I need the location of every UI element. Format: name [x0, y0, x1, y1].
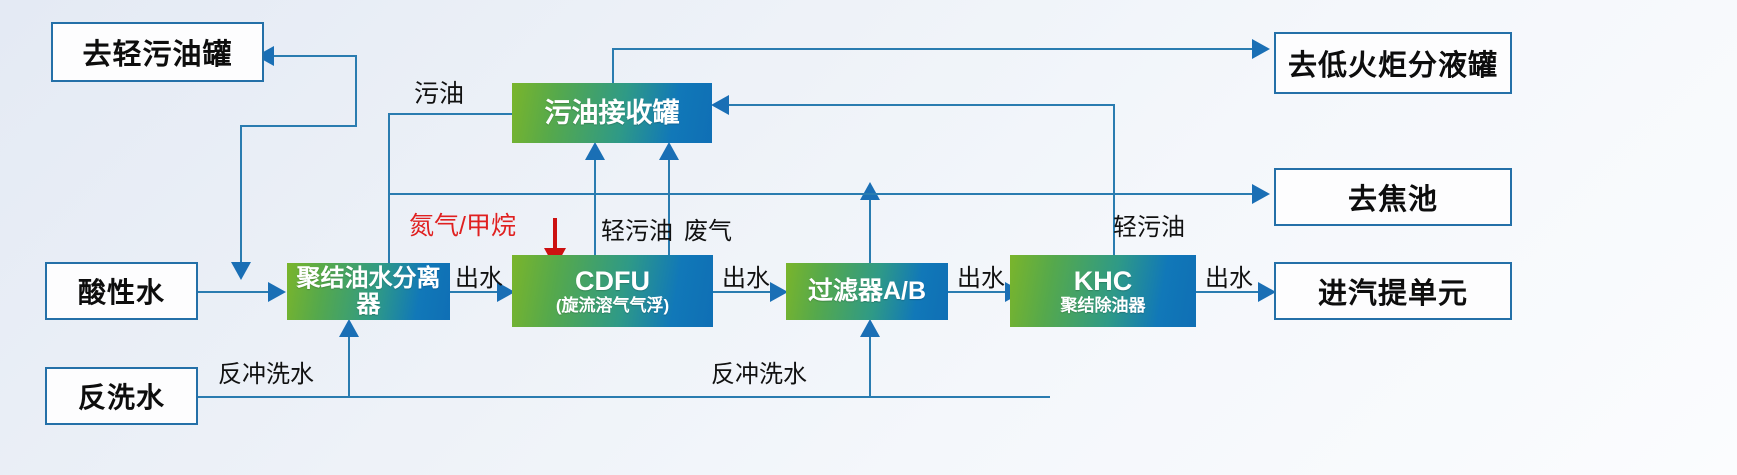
connector-light-oil-tank-run [271, 55, 357, 57]
arrowhead-sour-water-to-separator [268, 282, 286, 302]
process-box-coalescing-oil-water-separator[interactable]: 聚结油水分离器 [287, 263, 450, 320]
connector-tank-vent-riser [612, 48, 614, 83]
arrowhead-to-coke-pond [1252, 184, 1270, 204]
process-box-title: 聚结油水分离器 [287, 266, 450, 316]
io-box-label: 去轻污油罐 [82, 31, 232, 73]
io-box-label: 反洗水 [78, 376, 165, 416]
stream-label-effluent-3: 出水 [957, 258, 1005, 293]
arrowhead-backwash-into-filter [860, 319, 880, 337]
stream-label-light-waste-oil-khc: 轻污油 [1113, 207, 1185, 242]
process-box-title: CDFU [575, 267, 650, 295]
stream-label-waste-oil: 污油 [414, 74, 464, 110]
connector-light-oil-tank-riser [355, 55, 357, 127]
io-box-to-light-oil-tank[interactable]: 去轻污油罐 [51, 22, 264, 82]
arrowhead-backwash-into-separator [339, 319, 359, 337]
io-box-label: 去焦池 [1348, 176, 1438, 218]
process-box-subtitle: (旋流溶气气浮) [556, 297, 669, 315]
connector-cdfu-waste-gas-riser [668, 153, 670, 263]
process-box-waste-oil-receiving-tank[interactable]: 污油接收罐 [512, 83, 712, 143]
io-box-to-steam-stripping[interactable]: 进汽提单元 [1274, 262, 1512, 320]
io-box-label: 进汽提单元 [1318, 270, 1468, 312]
process-box-title: 污油接收罐 [545, 99, 680, 127]
connector-backwash-main [198, 396, 1050, 398]
stream-label-effluent-2: 出水 [722, 258, 770, 293]
process-box-title: KHC [1074, 267, 1133, 295]
stream-label-effluent-1: 出水 [455, 258, 503, 293]
process-box-cdfu[interactable]: CDFU (旋流溶气气浮) [512, 255, 713, 327]
connector-nitrogen-methane-red [553, 218, 557, 250]
process-box-subtitle: 聚结除油器 [1061, 297, 1146, 315]
connector-separator-up [388, 113, 390, 264]
io-box-to-low-flare-drum[interactable]: 去低火炬分液罐 [1274, 32, 1512, 94]
process-box-khc[interactable]: KHC 聚结除油器 [1010, 255, 1196, 327]
io-box-label: 酸性水 [78, 271, 165, 311]
stream-label-backwash-left: 反冲洗水 [218, 354, 314, 389]
connector-waste-oil-to-tank [388, 113, 515, 115]
stream-label-nitrogen-methane: 氮气/甲烷 [409, 206, 516, 242]
connector-khc-light-oil-run [726, 104, 1115, 106]
arrowhead-to-low-flare-drum [1252, 39, 1270, 59]
process-flow-diagram: 去轻污油罐 去低火炬分液罐 去焦池 酸性水 反洗水 进汽提单元 污油接收罐 聚结… [0, 0, 1737, 475]
connector-cdfu-light-oil-riser [594, 153, 596, 263]
arrowhead-into-waste-oil-tank-right [711, 95, 729, 115]
process-box-filter-ab[interactable]: 过滤器A/B [786, 263, 948, 320]
stream-label-backwash-right: 反冲洗水 [711, 354, 807, 389]
io-box-to-coke-pond[interactable]: 去焦池 [1274, 168, 1512, 226]
connector-sour-water-to-separator [198, 291, 270, 293]
arrowhead-filter-riser-up [860, 182, 880, 200]
connector-recycle-drop [240, 125, 242, 267]
connector-coke-pond-run [388, 193, 1258, 195]
connector-filter-riser [869, 193, 871, 265]
connector-backwash-riser-separator [348, 330, 350, 398]
stream-label-waste-gas: 废气 [684, 211, 732, 246]
arrowhead-recycle-into-sour-line [231, 262, 251, 280]
io-box-sour-water[interactable]: 酸性水 [45, 262, 198, 320]
io-box-label: 去低火炬分液罐 [1288, 42, 1498, 84]
connector-backwash-riser-filter [869, 330, 871, 398]
connector-tank-vent-run [612, 48, 1258, 50]
stream-label-effluent-4: 出水 [1205, 258, 1253, 293]
stream-label-light-waste-oil-cdfu: 轻污油 [601, 211, 673, 246]
arrowhead-cdfu-waste-gas-up [659, 142, 679, 160]
process-box-title: 过滤器A/B [808, 278, 926, 304]
connector-recycle-top [240, 125, 357, 127]
io-box-backwash-water[interactable]: 反洗水 [45, 367, 198, 425]
arrowhead-cdfu-light-oil-up [585, 142, 605, 160]
